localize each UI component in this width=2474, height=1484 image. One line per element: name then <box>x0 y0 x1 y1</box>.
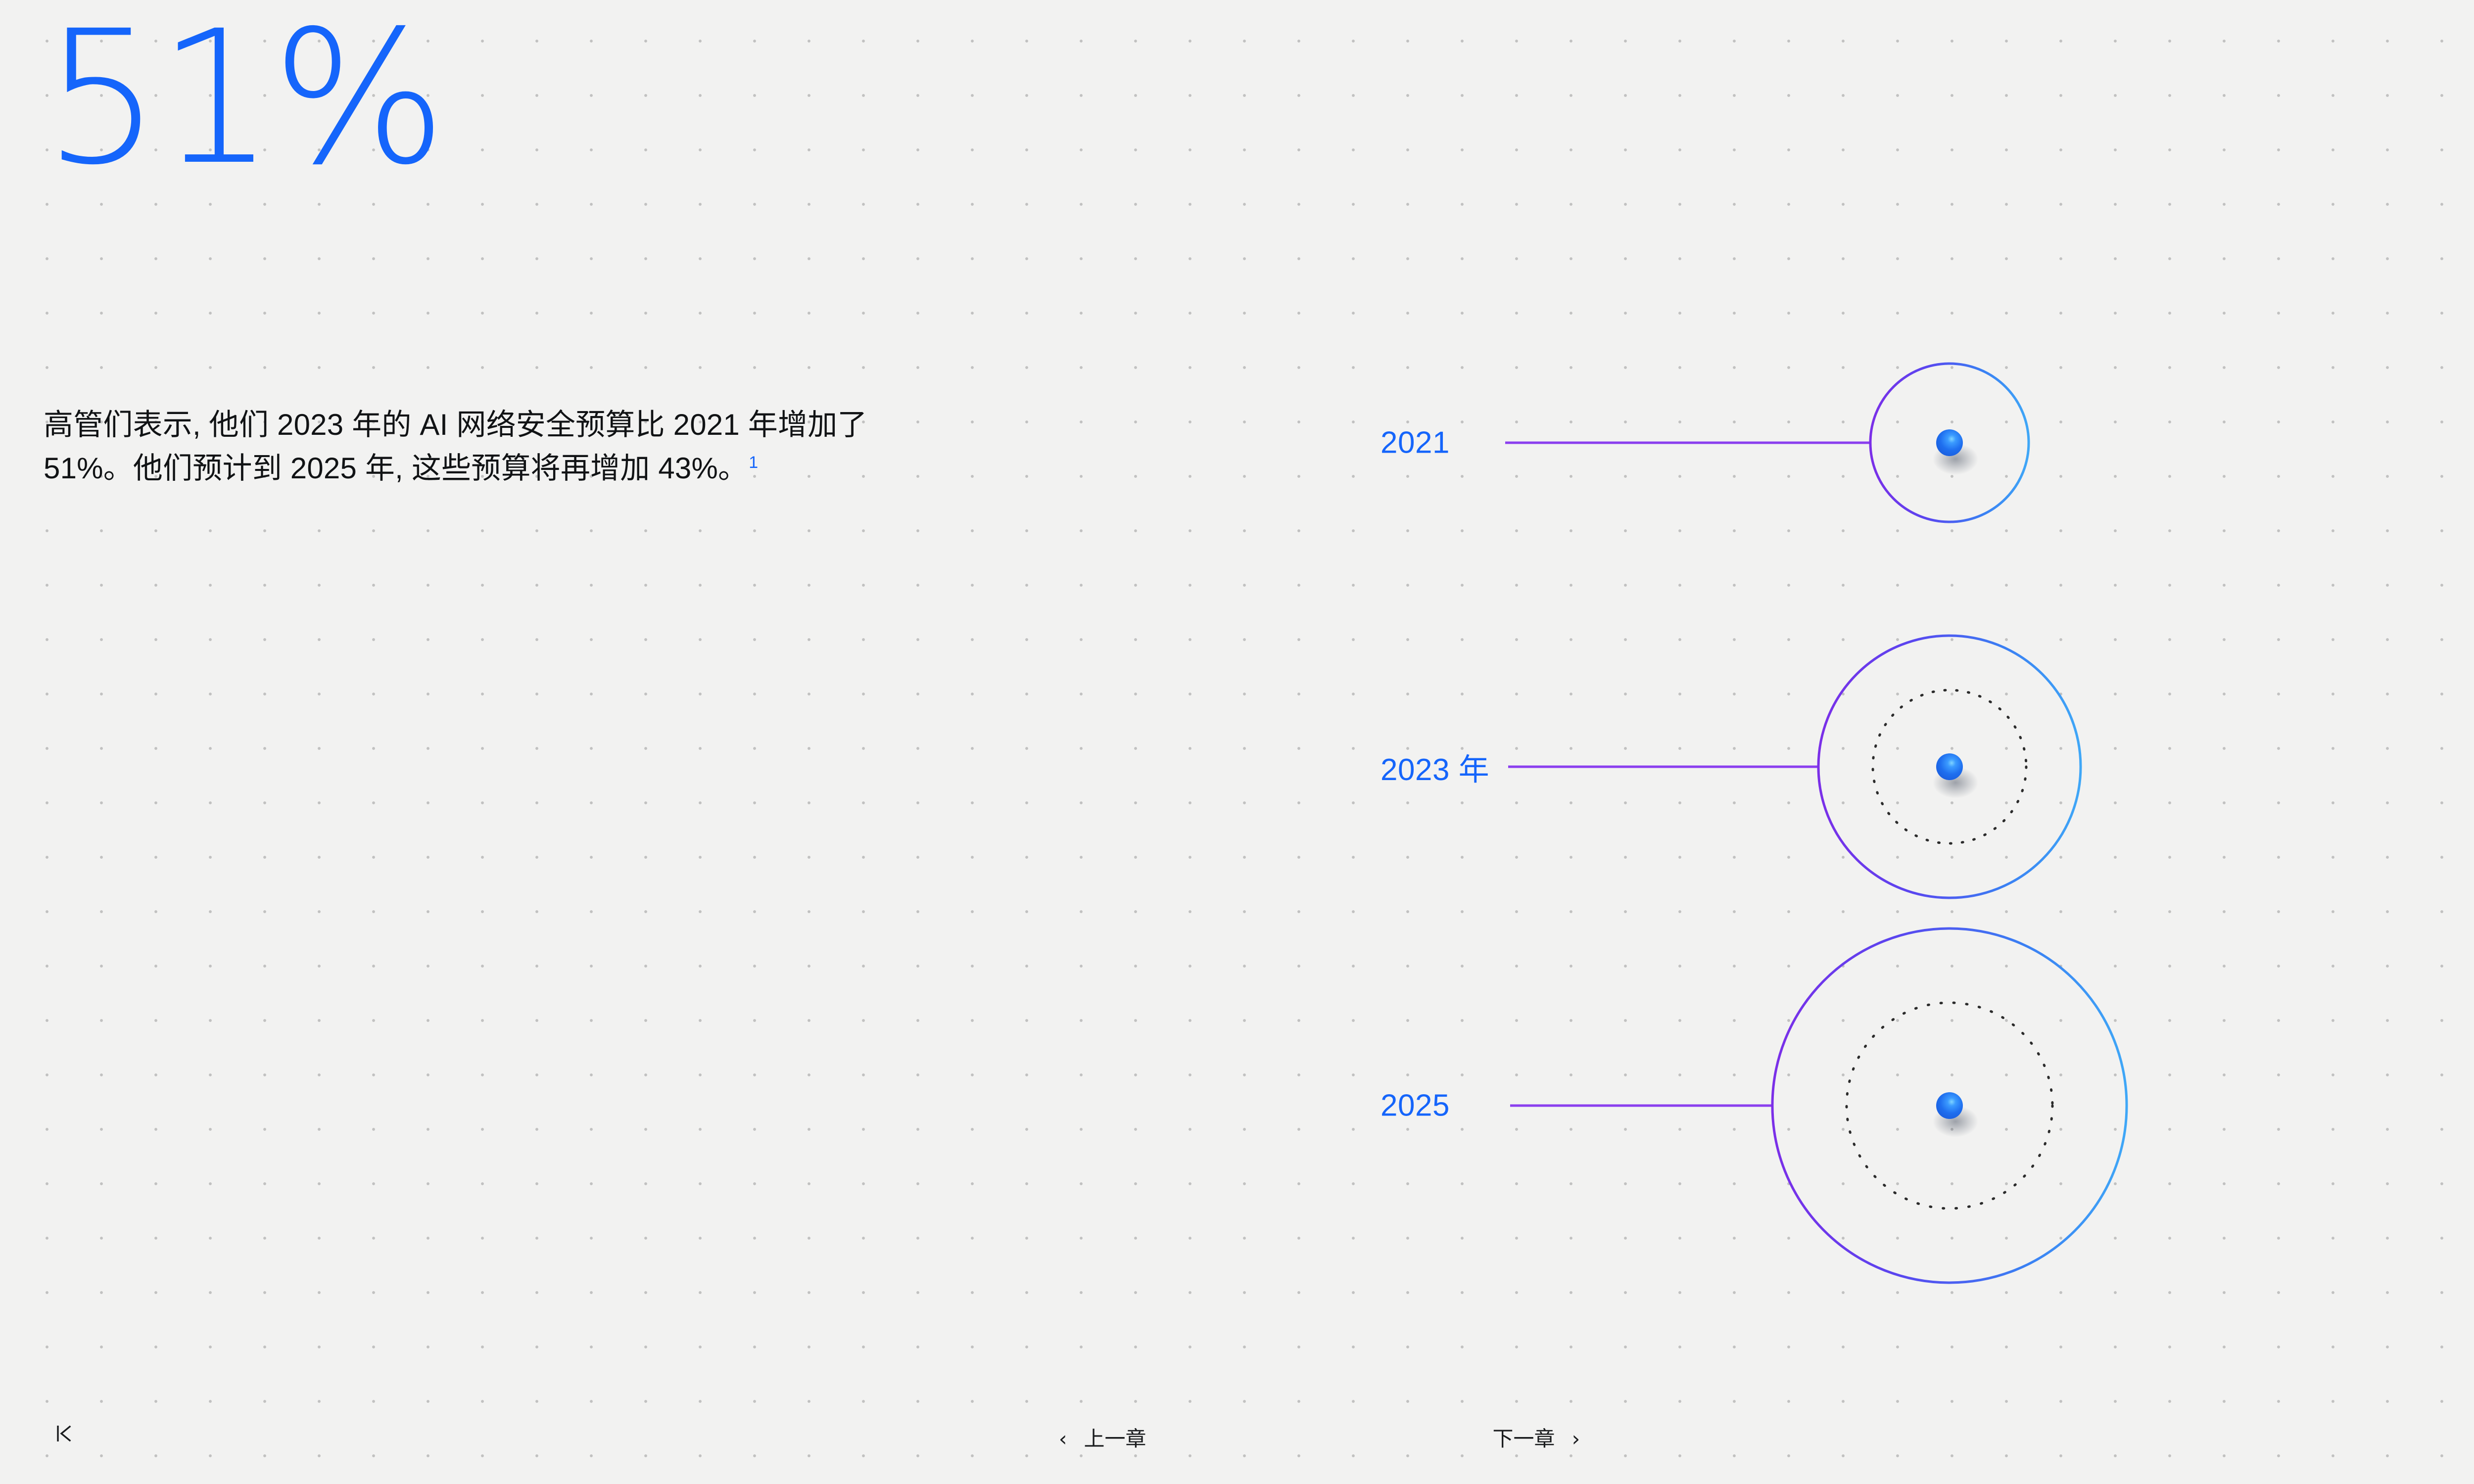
chevron-right-icon: › <box>1572 1429 1580 1449</box>
skip-to-start-button[interactable] <box>53 1422 77 1445</box>
chevron-left-icon: ‹ <box>1059 1429 1067 1449</box>
footnote-marker[interactable]: 1 <box>749 453 758 472</box>
slide-page: 51% 高管们表示, 他们 2023 年的 AI 网络安全预算比 2021 年增… <box>0 0 2474 1484</box>
bubble-label-2023[interactable]: 2023 年 <box>1380 744 1489 789</box>
prev-chapter-label: 上一章 <box>1084 1429 1146 1449</box>
bubble-group-2025[interactable] <box>1510 928 2127 1283</box>
bubble-group-2021[interactable] <box>1505 364 2029 522</box>
next-chapter-button[interactable]: 下一章 › <box>1493 1429 1580 1449</box>
chapter-navigation: ‹ 上一章 下一章 › <box>1059 1429 1580 1449</box>
bubble-label-2025[interactable]: 2025 <box>1380 1088 1450 1123</box>
left-content-column: 51% 高管们表示, 他们 2023 年的 AI 网络安全预算比 2021 年增… <box>44 0 909 185</box>
bubble-group-2023[interactable] <box>1508 636 2081 898</box>
next-chapter-label: 下一章 <box>1493 1429 1555 1449</box>
page-footer: ‹ 上一章 下一章 › 8 <box>0 1390 2474 1484</box>
skip-to-start-icon <box>53 1422 77 1445</box>
bubble-label-2021[interactable]: 2021 <box>1380 425 1450 461</box>
bubble-chart: 2021 2023 年 2025 <box>1237 277 2375 1365</box>
value-orb-2023 <box>1936 753 1963 780</box>
value-orb-2025 <box>1936 1092 1963 1119</box>
page-title: 51% <box>44 0 909 185</box>
body-text: 高管们表示, 他们 2023 年的 AI 网络安全预算比 2021 年增加了 5… <box>44 408 867 485</box>
value-orb-2021 <box>1936 429 1963 456</box>
prev-chapter-button[interactable]: ‹ 上一章 <box>1059 1429 1146 1449</box>
body-paragraph: 高管们表示, 他们 2023 年的 AI 网络安全预算比 2021 年增加了 5… <box>44 403 880 490</box>
